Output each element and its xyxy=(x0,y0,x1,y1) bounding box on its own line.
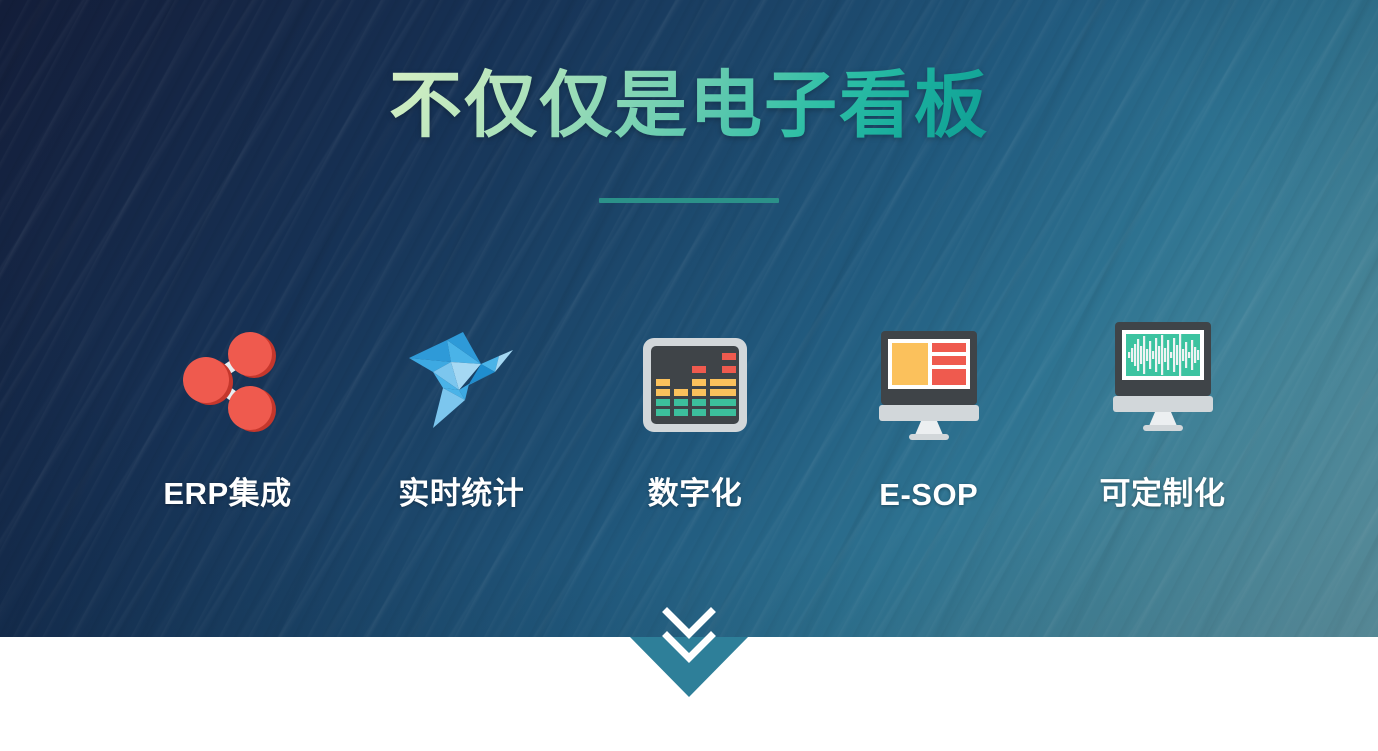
feature-icon-wrap-customizable xyxy=(1113,312,1213,432)
feature-item-realtime-stats[interactable]: 实时统计 xyxy=(354,312,569,513)
page-title: 不仅仅是电子看板 xyxy=(389,66,989,146)
hero-title-wrap: 不仅仅是电子看板 xyxy=(0,66,1378,146)
feature-list: ERP集成 xyxy=(120,312,1270,513)
feature-label-erp: ERP集成 xyxy=(163,468,291,513)
feature-label-customizable: 可定制化 xyxy=(1100,468,1226,513)
hero-section: 不仅仅是电子看板 xyxy=(0,0,1378,637)
page-root: 不仅仅是电子看板 xyxy=(0,0,1378,751)
monitor-waveform-icon xyxy=(1113,322,1213,432)
equalizer-board-icon xyxy=(643,338,747,432)
feature-icon-wrap-digitization xyxy=(643,312,747,432)
feature-item-digitization[interactable]: 数字化 xyxy=(588,312,803,513)
monitor-layout-icon xyxy=(879,331,979,441)
title-divider xyxy=(599,198,779,203)
feature-item-customizable[interactable]: 可定制化 xyxy=(1055,312,1270,513)
feature-item-erp[interactable]: ERP集成 xyxy=(120,312,335,513)
feature-icon-wrap-erp xyxy=(176,312,280,432)
scroll-down-arrow[interactable] xyxy=(630,637,748,697)
feature-icon-wrap-realtime-stats xyxy=(403,312,519,432)
feature-icon-wrap-esop xyxy=(879,321,979,441)
feature-label-esop: E-SOP xyxy=(879,477,978,513)
feature-item-esop[interactable]: E-SOP xyxy=(821,321,1036,513)
feature-label-digitization: 数字化 xyxy=(648,468,743,513)
origami-bird-icon xyxy=(403,328,519,432)
share-network-icon xyxy=(176,328,280,432)
feature-label-realtime-stats: 实时统计 xyxy=(398,468,524,513)
